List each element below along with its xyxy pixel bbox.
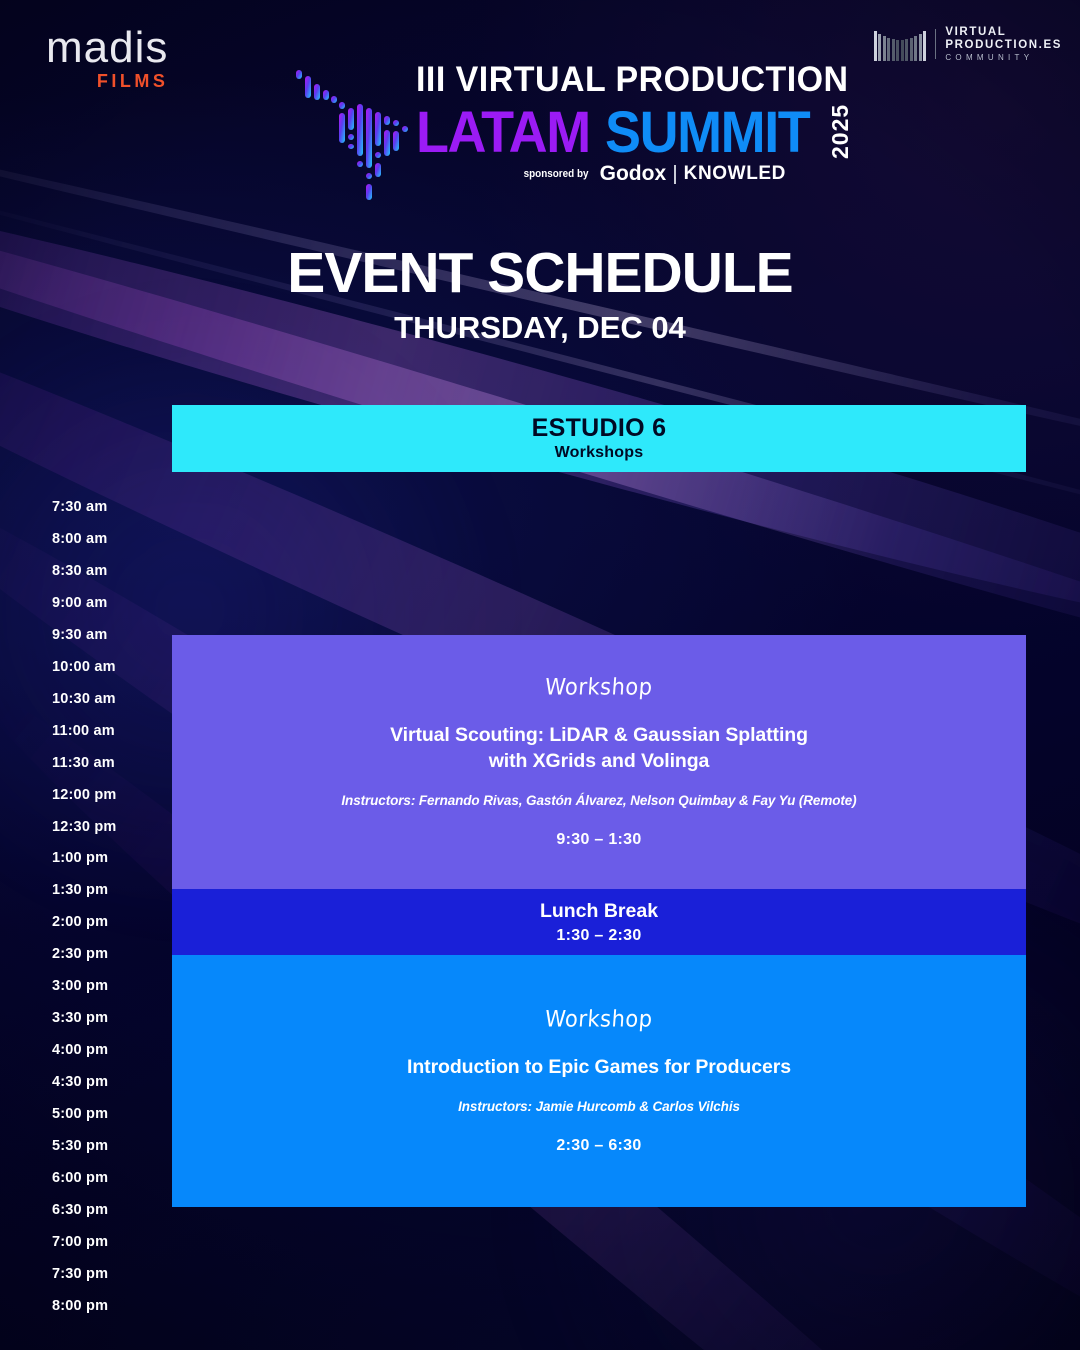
time-label: 1:00 pm	[0, 842, 172, 874]
latam-summit-logo: III VIRTUAL PRODUCTION LATAM SUMMIT 2025…	[294, 62, 786, 212]
session-instructors: Instructors: Fernando Rivas, Gastón Álva…	[341, 793, 856, 808]
page-subtitle-date: THURSDAY, DEC 04	[0, 312, 1080, 343]
break-time-range: 1:30 – 2:30	[556, 927, 641, 945]
session-title: Virtual Scouting: LiDAR & Gaussian Splat…	[390, 723, 808, 774]
time-label: 6:30 pm	[0, 1194, 172, 1226]
time-label: 11:00 am	[0, 715, 172, 747]
time-label: 4:30 pm	[0, 1066, 172, 1098]
equalizer-map-icon	[294, 68, 414, 204]
session-title-line2: with XGrids and Volinga	[390, 749, 808, 774]
time-label: 8:00 am	[0, 523, 172, 555]
break-title: Lunch Break	[540, 899, 658, 923]
room-subtitle: Workshops	[555, 443, 644, 462]
session-title: Introduction to Epic Games for Producers	[407, 1055, 791, 1080]
summit-logo-latam: LATAM	[416, 106, 590, 159]
room-header-estudio-6: ESTUDIO 6 Workshops	[172, 405, 1026, 472]
session-block[interactable]: WorkshopVirtual Scouting: LiDAR & Gaussi…	[172, 635, 1026, 889]
madis-wordmark: madis	[46, 26, 168, 70]
session-block[interactable]: Lunch Break1:30 – 2:30	[172, 889, 1026, 955]
time-label: 11:30 am	[0, 747, 172, 779]
time-label: 7:30 am	[0, 491, 172, 523]
time-label: 6:00 pm	[0, 1162, 172, 1194]
session-title-line1: Introduction to Epic Games for Producers	[407, 1055, 791, 1080]
time-label: 9:00 am	[0, 587, 172, 619]
sponsor-godox-logo: Godox	[600, 162, 667, 186]
room-name: ESTUDIO 6	[532, 415, 667, 443]
madis-films-logo: madis FILMS	[46, 26, 168, 90]
sponsored-by-label: sponsored by	[523, 168, 588, 180]
time-label: 1:30 pm	[0, 874, 172, 906]
sponsor-divider	[674, 165, 676, 184]
virtual-production-community-logo: VIRTUAL PRODUCTION.ES COMMUNITY	[874, 26, 1062, 63]
time-label: 8:30 am	[0, 555, 172, 587]
summit-logo-summit: SUMMIT	[605, 106, 809, 159]
vp-logo-divider	[935, 29, 936, 59]
vp-logo-line2: PRODUCTION.ES	[945, 39, 1062, 52]
session-kind-label: Workshop	[544, 1006, 653, 1032]
madis-films-subtitle: FILMS	[46, 72, 168, 90]
sponsor-knowled-logo: KNOWLED	[684, 163, 786, 185]
time-label: 7:30 pm	[0, 1258, 172, 1290]
session-kind-label: Workshop	[544, 674, 653, 700]
time-label: 10:00 am	[0, 651, 172, 683]
vp-bars-icon	[874, 27, 927, 61]
vp-logo-line3: COMMUNITY	[945, 54, 1062, 63]
session-instructors: Instructors: Jamie Hurcomb & Carlos Vilc…	[458, 1099, 740, 1114]
time-label: 5:30 pm	[0, 1130, 172, 1162]
time-label: 8:00 pm	[0, 1290, 172, 1322]
session-title-line1: Virtual Scouting: LiDAR & Gaussian Splat…	[390, 723, 808, 748]
session-time-range: 9:30 – 1:30	[556, 831, 641, 849]
session-block[interactable]: WorkshopIntroduction to Epic Games for P…	[172, 955, 1026, 1207]
time-label: 4:00 pm	[0, 1034, 172, 1066]
time-label: 10:30 am	[0, 683, 172, 715]
session-time-range: 2:30 – 6:30	[556, 1137, 641, 1155]
summit-logo-year: 2025	[829, 101, 852, 159]
time-label: 2:30 pm	[0, 938, 172, 970]
time-label: 9:30 am	[0, 619, 172, 651]
time-label: 12:00 pm	[0, 779, 172, 811]
time-label: 3:00 pm	[0, 970, 172, 1002]
time-label: 2:00 pm	[0, 906, 172, 938]
page-title: EVENT SCHEDULE	[0, 245, 1080, 302]
vp-logo-line1: VIRTUAL	[945, 26, 1062, 39]
time-label: 12:30 pm	[0, 811, 172, 843]
time-label: 5:00 pm	[0, 1098, 172, 1130]
time-label: 7:00 pm	[0, 1226, 172, 1258]
time-label: 3:30 pm	[0, 1002, 172, 1034]
summit-logo-line1: III VIRTUAL PRODUCTION	[416, 62, 775, 97]
